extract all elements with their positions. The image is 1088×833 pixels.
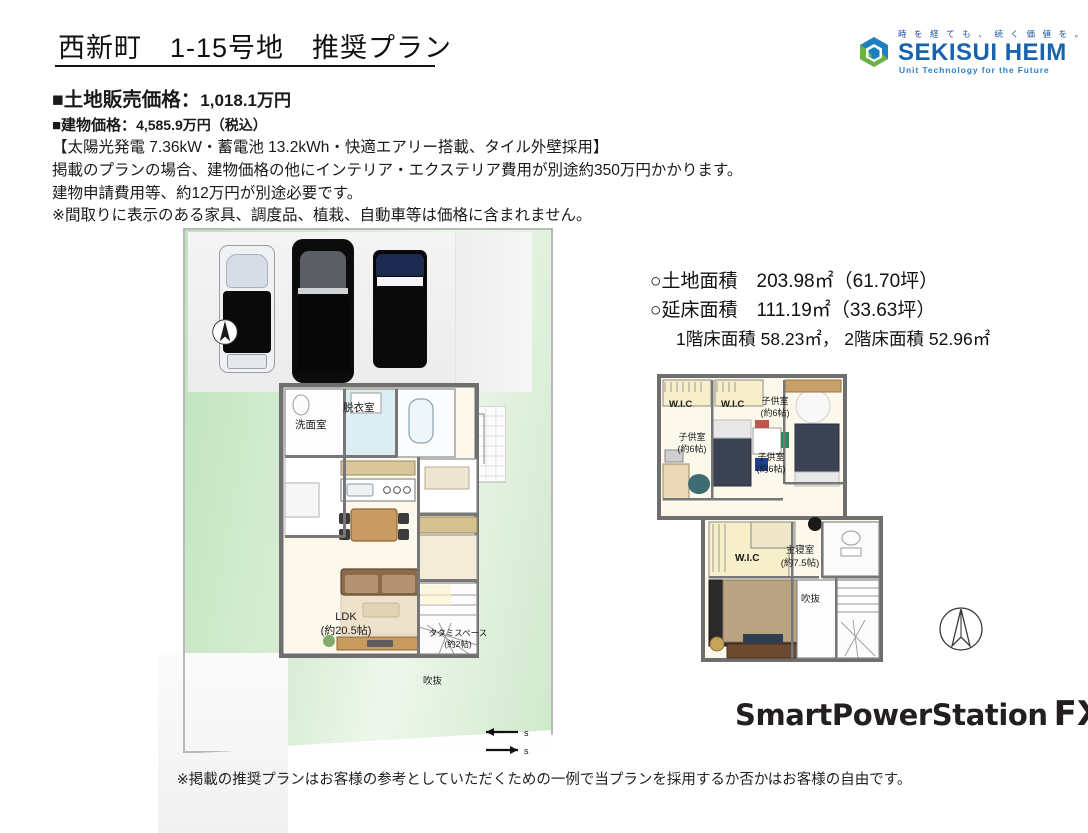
kids2-size: (約6帖) [751, 408, 799, 420]
floor1-value: 58.23 [761, 329, 805, 349]
room-label-kids-2: 子供室 (約6帖) [751, 396, 799, 419]
floor1-label: 1階床面積 [676, 329, 756, 349]
total-floor-area-line: ○延床面積 111.19㎡（33.63坪） [650, 297, 1070, 326]
floor2-label: 2階床面積 [844, 329, 924, 349]
room-label-wic-1: W.I.C [669, 399, 692, 411]
master-name: 主寝室 [773, 545, 827, 558]
logo-subtitle: Unit Technology for the Future [899, 65, 1050, 75]
building-price-label: ■建物価格： [52, 117, 136, 134]
ldk-name: LDK [301, 610, 391, 624]
unit-sqm: ㎡ [804, 329, 822, 349]
room-label-washroom: 洗面室 [295, 419, 327, 432]
land-area-value: 203.98 [757, 271, 815, 292]
unit-sqm: ㎡ [812, 300, 831, 321]
room-label-ldk: LDK (約20.5帖) [301, 610, 391, 639]
application-fee-note: 建物申請費用等、約12万円が別途必要です。 [52, 183, 952, 206]
title-underline [55, 65, 435, 67]
parked-car-black [292, 239, 354, 383]
unit-sqm: ㎡ [973, 329, 991, 349]
access-arrows: s s [476, 723, 540, 759]
tatami-size: (約2帖) [420, 639, 496, 650]
floor-plan-2f: W.I.C W.I.C 子供室 (約6帖) 子供室 (約6帖) 子供室 (約6帖… [655, 372, 887, 664]
equipment-line: 【太陽光発電 7.36kW・蓄電池 13.2kWh・快適エアリー搭載、タイル外壁… [52, 137, 952, 160]
room-label-dressing: 脱衣室 [343, 402, 375, 415]
room-label-wic-3: W.I.C [735, 553, 759, 566]
furniture-exclusion-note: ※間取りに表示のある家具、調度品、植栽、自動車等は価格に含まれません。 [52, 205, 952, 228]
ldk-size: (約20.5帖) [301, 624, 391, 638]
room-label-tatami-space: タタミスペース (約2帖) [420, 628, 496, 650]
land-price-value: 1,018.1万円 [200, 91, 291, 110]
logo-wordmark: SEKISUI HEIM [898, 39, 1067, 67]
svg-text:s: s [524, 728, 529, 738]
footer-disclaimer: ※掲載の推奨プランはお客様の参考としていただくための一例で当プランを採用するか否… [0, 768, 1088, 789]
kids3-size: (約6帖) [747, 464, 795, 476]
room-label-kids-3: 子供室 (約6帖) [747, 452, 795, 475]
total-floor-value: 111.19 [757, 300, 812, 321]
page-title: 西新町 1-15号地 推奨プラン [58, 26, 452, 65]
unit-sqm: ㎡ [815, 271, 834, 292]
land-price-line: ■土地販売価格：1,018.1万円 [52, 86, 952, 114]
interior-cost-note: 掲載のプランの場合、建物価格の他にインテリア・エクステリア費用が別途約350万円… [52, 160, 952, 183]
room-label-void-2f: 吹抜 [801, 594, 820, 606]
hexagon-swirl-icon [858, 36, 890, 68]
kids1-name: 子供室 [668, 432, 716, 444]
land-area-tsubo: （61.70坪） [834, 271, 939, 292]
kids1-size: (約6帖) [668, 444, 716, 456]
north-arrow-icon [211, 318, 239, 346]
master-size: (約7.5帖) [773, 558, 827, 571]
total-floor-label: ○延床面積 [650, 300, 737, 321]
tatami-name: タタミスペース [420, 628, 496, 639]
area-separator: ， [822, 329, 840, 349]
land-area-line: ○土地面積 203.98㎡（61.70坪） [650, 268, 1070, 297]
room-label-master-bedroom: 主寝室 (約7.5帖) [773, 545, 827, 571]
per-floor-area-line: 1階床面積 58.23㎡， 2階床面積 52.96㎡ [650, 326, 1070, 353]
kids3-name: 子供室 [747, 452, 795, 464]
specification-block: ■土地販売価格：1,018.1万円 ■建物価格：4,585.9万円（税込） 【太… [52, 86, 952, 228]
brand-suffix: FX [1054, 694, 1088, 734]
smartpowerstation-brand: SmartPowerStationFX [735, 694, 1088, 734]
area-specifications: ○土地面積 203.98㎡（61.70坪） ○延床面積 111.19㎡（33.6… [650, 268, 1070, 352]
kids2-name: 子供室 [751, 396, 799, 408]
parked-car-silver [219, 245, 275, 373]
site-plan-1f: 洗面室 脱衣室 LDK (約20.5帖) タタミスペース (約2帖) 吹抜 s … [183, 228, 553, 753]
room-label-wic-2: W.I.C [721, 399, 744, 411]
room-label-void-1f: 吹抜 [423, 676, 442, 688]
total-floor-tsubo: （33.63坪） [831, 300, 936, 321]
north-arrow-icon [937, 605, 985, 653]
land-area-label: ○土地面積 [650, 271, 737, 292]
sekisui-heim-logo: 時 を 経 て も 、 続 く 価 値 を 。 SEKISUI HEIM Uni… [858, 28, 1073, 76]
land-price-label: ■土地販売価格： [52, 89, 200, 111]
floor2-value: 52.96 [929, 329, 973, 349]
svg-text:s: s [524, 746, 529, 756]
room-label-kids-1: 子供室 (約6帖) [668, 432, 716, 455]
parked-car-navy-van [373, 250, 427, 368]
building-price-value: 4,585.9万円（税込） [136, 117, 267, 133]
brand-name: SmartPowerStation [735, 698, 1048, 732]
building-price-line: ■建物価格：4,585.9万円（税込） [52, 115, 952, 137]
